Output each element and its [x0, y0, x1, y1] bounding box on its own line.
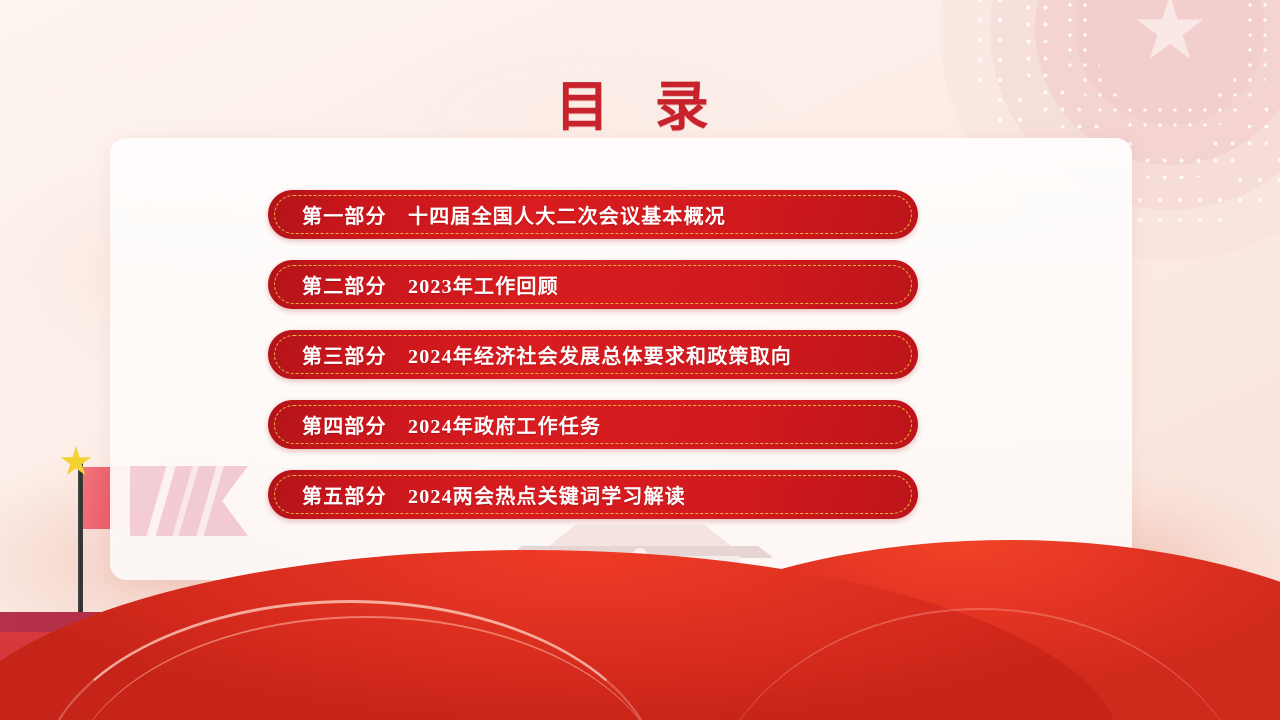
toc-item-3[interactable]: 第三部分 2024年经济社会发展总体要求和政策取向	[268, 330, 918, 379]
toc-item-label: 第五部分 2024两会热点关键词学习解读	[268, 480, 686, 509]
toc-item-label: 第二部分 2023年工作回顾	[268, 270, 559, 299]
table-of-contents: 第一部分 十四届全国人大二次会议基本概况 第二部分 2023年工作回顾 第三部分…	[268, 190, 918, 540]
slide-canvas: 目 录 第一部分 十四届全国人大二次会议基本概况 第二部分 2023年工作回顾 …	[0, 0, 1280, 720]
toc-item-label: 第三部分 2024年经济社会发展总体要求和政策取向	[268, 340, 792, 369]
toc-item-label: 第一部分 十四届全国人大二次会议基本概况	[268, 200, 726, 229]
toc-item-label: 第四部分 2024年政府工作任务	[268, 410, 601, 439]
toc-item-4[interactable]: 第四部分 2024年政府工作任务	[268, 400, 918, 449]
page-title: 目 录	[0, 62, 1280, 141]
toc-item-1[interactable]: 第一部分 十四届全国人大二次会议基本概况	[268, 190, 918, 239]
ribbon-streak-3	[194, 459, 226, 547]
ribbon-streak-2	[170, 459, 201, 547]
toc-item-2[interactable]: 第二部分 2023年工作回顾	[268, 260, 918, 309]
